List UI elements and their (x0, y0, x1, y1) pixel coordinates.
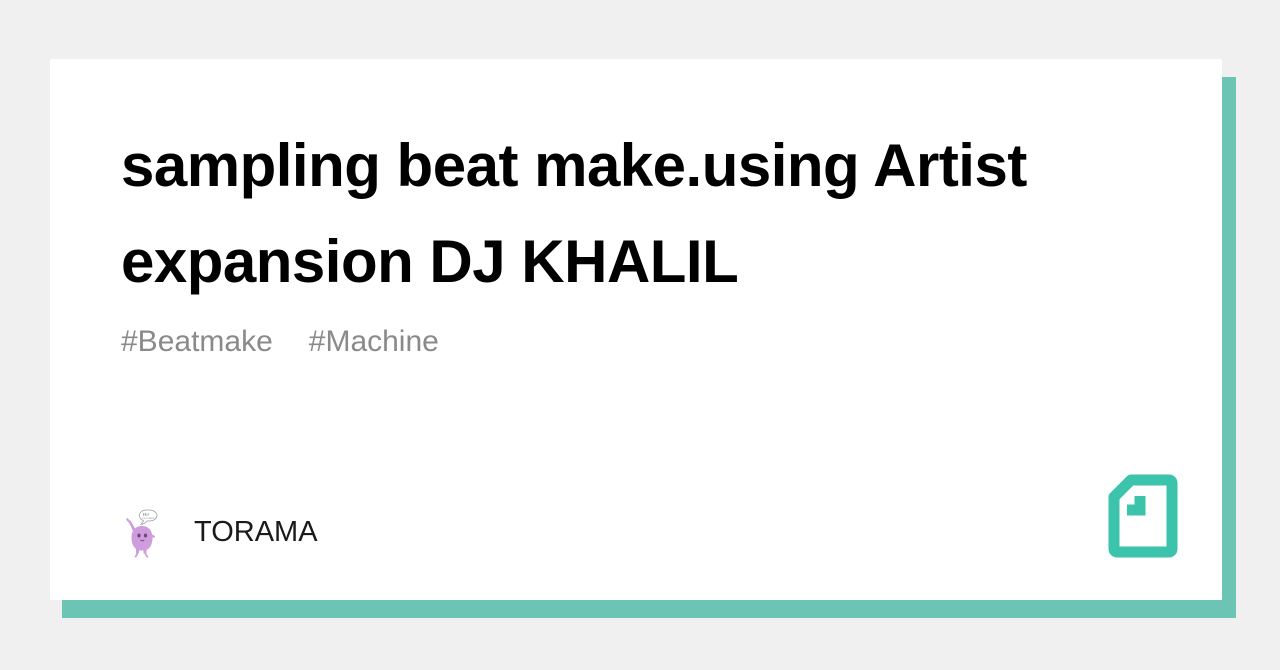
article-card[interactable]: sampling beat make.using Artist expansio… (50, 59, 1222, 600)
tag-list: #Beatmake #Machine (121, 327, 439, 357)
page-title: sampling beat make.using Artist expansio… (121, 118, 1181, 310)
document-note-icon[interactable] (1108, 474, 1178, 558)
tag-machine[interactable]: #Machine (309, 327, 439, 357)
author-block[interactable]: Hi! nice to meet u TORAMA (118, 504, 318, 560)
author-name: TORAMA (194, 518, 318, 547)
avatar: Hi! nice to meet u (118, 504, 174, 560)
article-card-stage: sampling beat make.using Artist expansio… (0, 0, 1280, 670)
tag-beatmake[interactable]: #Beatmake (121, 327, 273, 357)
svg-text:meet u: meet u (149, 517, 157, 520)
